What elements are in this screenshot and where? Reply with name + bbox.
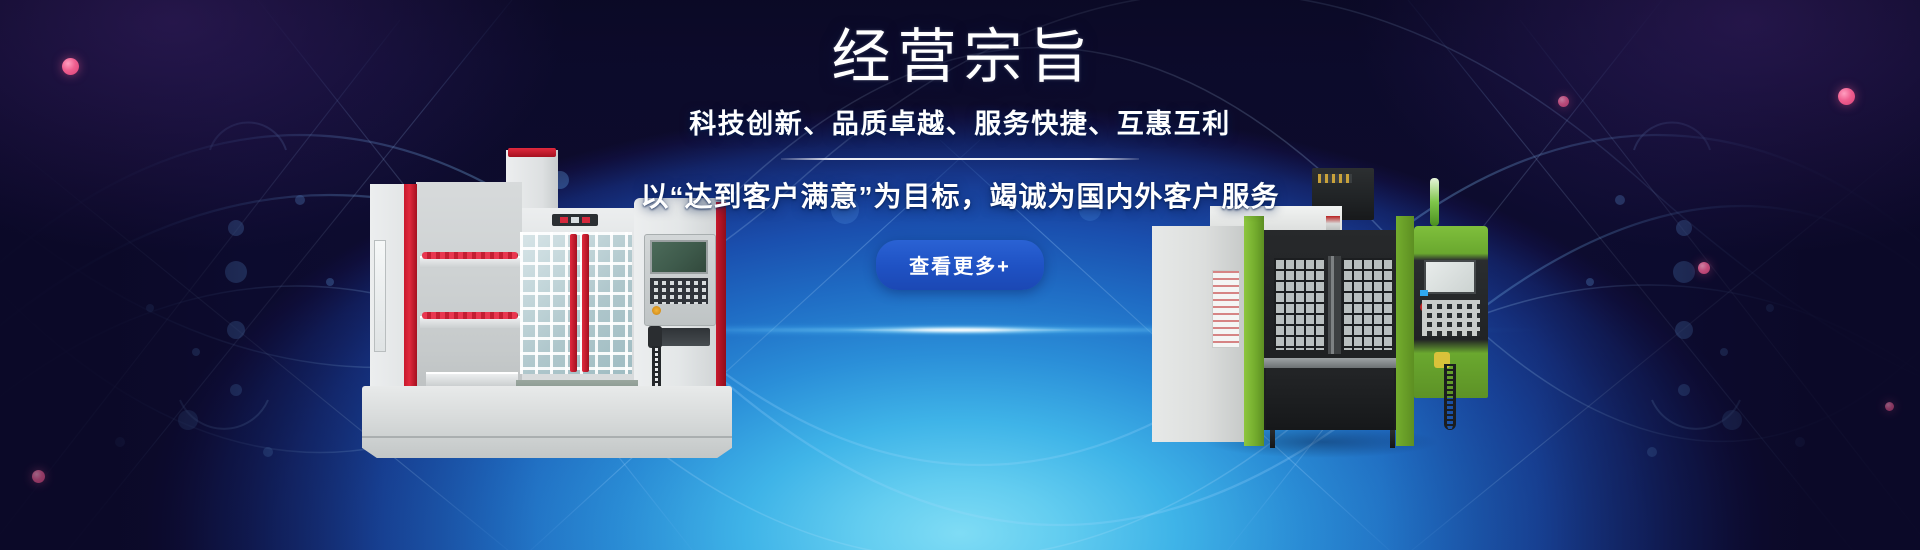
- machine-foot: [1390, 430, 1395, 448]
- pink-dot-decor: [1885, 402, 1894, 411]
- pink-dot-decor: [1558, 96, 1569, 107]
- machine-hand-pendant: [648, 326, 662, 348]
- machine-emergency-stop-button: [652, 306, 661, 315]
- pink-dot-decor: [1838, 88, 1855, 105]
- company-philosophy-banner: 经营宗旨 科技创新、品质卓越、服务快捷、互惠互利 以“达到客户满意”为目标，竭诚…: [0, 0, 1920, 550]
- machine-lower-door: [1266, 368, 1394, 430]
- headline-tagline: 以“达到客户满意”为目标，竭诚为国内外客户服务: [510, 175, 1410, 215]
- machine-cnc-screen: [1424, 260, 1476, 294]
- machine-coiled-cord: [1444, 364, 1456, 430]
- headline-subtitle: 科技创新、品质卓越、服务快捷、互惠互利: [510, 102, 1410, 141]
- machine-part-row-upper: [422, 252, 518, 259]
- pink-dot-decor: [32, 470, 45, 483]
- pink-dot-decor: [62, 58, 79, 75]
- page-title: 经营宗旨: [510, 26, 1410, 89]
- machine-cnc-keypad: [1422, 300, 1480, 336]
- pink-dot-decor: [1698, 262, 1710, 274]
- view-more-button[interactable]: 查看更多+: [876, 240, 1044, 290]
- machine-shelf-bottom: [426, 372, 518, 386]
- machine-led-blue: [1420, 290, 1428, 296]
- machine-base: [362, 386, 732, 458]
- machine-red-stripe-left: [404, 184, 417, 416]
- machine-side-window: [374, 240, 386, 352]
- divider-line: [781, 158, 1139, 160]
- machine-base-seam: [362, 436, 732, 438]
- headline-block: 经营宗旨 科技创新、品质卓越、服务快捷、互惠互利 以“达到客户满意”为目标，竭诚…: [510, 26, 1410, 290]
- machine-signal-tower: [1430, 178, 1439, 226]
- machine-part-row-lower: [422, 312, 518, 319]
- machine-foot: [1270, 430, 1275, 448]
- machine-chip-tray: [1264, 358, 1396, 368]
